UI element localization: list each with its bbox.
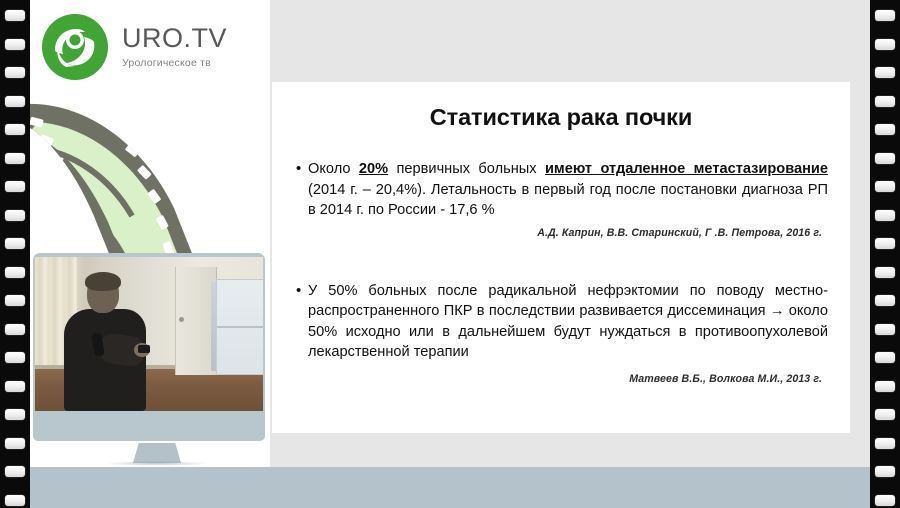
film-sprocket-hole [5,210,25,221]
bullet-marker: • [296,159,308,221]
film-sprocket-hole [875,267,895,278]
film-sprocket-hole [875,409,895,420]
film-sprocket-hole [5,466,25,477]
slide-bullet-2: • У 50% больных после радикальной нефрэк… [296,281,828,363]
video-whiteboard [216,279,263,375]
film-sprocket-hole [875,210,895,221]
slide-bullet-1: • Около 20% первичных больных имеют отда… [296,159,828,221]
bullet-1-seg-1-emphasis: 20% [359,161,388,177]
film-sprocket-hole [5,67,25,78]
film-sprocket-hole [875,181,895,192]
video-presenter-clicker [138,345,150,353]
presentation-slide: Статистика рака почки • Около 20% первич… [272,82,850,433]
film-sprocket-hole [875,153,895,164]
film-sprocket-hole [5,238,25,249]
video-door-knob [179,317,184,322]
film-sprocket-hole [5,295,25,306]
bullet-1-seg-0: Около [308,161,359,177]
film-sprocket-hole [5,181,25,192]
film-sprocket-hole [5,495,25,506]
bullet-marker-2: • [296,281,308,363]
video-still[interactable] [35,257,263,411]
video-player-screen: URO.TV Урологическое тв [0,0,900,508]
citation-1: А.Д. Каприн, В.В. Старинский, Г .В. Петр… [272,227,822,239]
film-sprocket-hole [875,96,895,107]
film-sprocket-hole [5,10,25,21]
logo-lockup: URO.TV Урологическое тв [42,14,227,80]
film-strip-decoration-icon [30,96,270,271]
film-sprocket-hole [875,67,895,78]
bullet-1-seg-4: (2014 г. – 20,4%). Летальность в первый … [308,182,828,219]
film-strip-left [0,0,30,508]
branding-panel: URO.TV Урологическое тв [30,0,270,508]
player-bottom-bar[interactable] [30,467,870,508]
film-strip-right [870,0,900,508]
slide-title-text: Статистика рака почки [430,104,692,130]
film-sprocket-hole [875,352,895,363]
film-sprocket-hole [875,381,895,392]
bullet-text-2: У 50% больных после радикальной нефрэкто… [308,281,828,363]
film-sprocket-hole [5,438,25,449]
film-sprocket-hole [5,124,25,135]
film-sprocket-hole [875,295,895,306]
uro-aperture-logo-icon [42,14,108,80]
film-sprocket-hole [5,96,25,107]
film-sprocket-hole [875,39,895,50]
video-speaker-hair [85,272,121,291]
film-sprocket-hole [5,324,25,335]
film-sprocket-hole [5,409,25,420]
bullet-text-1: Около 20% первичных больных имеют отдале… [308,159,828,221]
film-sprocket-hole [5,39,25,50]
monitor-shadow [106,461,208,466]
film-sprocket-hole [5,352,25,363]
brand-title: URO.TV [122,25,227,52]
citation-2: Матвеев В.Б., Волкова М.И., 2013 г. [272,373,822,385]
film-sprocket-hole [875,324,895,335]
monitor-stand [133,443,181,463]
bullet-1-seg-2: первичных больных [388,161,545,177]
film-sprocket-hole [875,124,895,135]
film-sprocket-hole [5,267,25,278]
film-sprocket-hole [875,438,895,449]
film-sprocket-hole [5,153,25,164]
film-sprocket-hole [875,10,895,21]
slide-title: Статистика рака почки [272,104,850,131]
monitor-graphic [30,253,268,468]
film-sprocket-hole [5,381,25,392]
bullet-1-seg-3-emphasis: имеют отдаленное метастазирование [545,161,828,177]
film-sprocket-hole [875,238,895,249]
film-sprocket-hole [875,466,895,477]
brand-subtitle: Урологическое тв [122,58,227,69]
film-sprocket-hole [875,495,895,506]
